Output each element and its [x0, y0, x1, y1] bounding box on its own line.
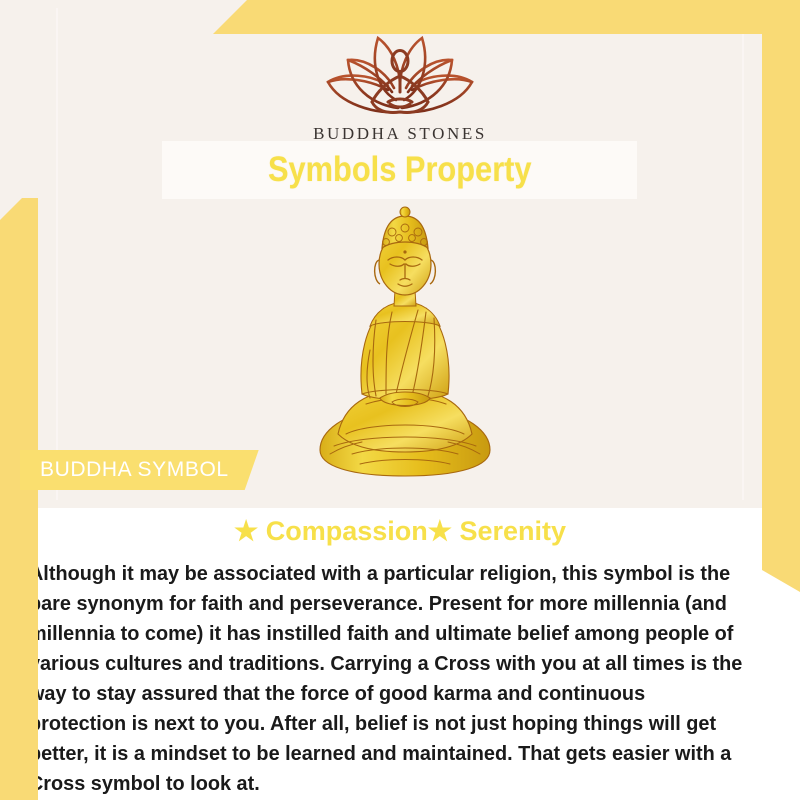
content-subtitle: ★ Compassion★ Serenity	[0, 516, 800, 547]
seated-buddha-statue-icon	[300, 198, 510, 498]
poster-canvas: BUDDHA STONES Symbols Property	[0, 0, 800, 800]
content-section: ★ Compassion★ Serenity Although it may b…	[0, 508, 800, 800]
content-paragraph: Although it may be associated with a par…	[0, 559, 772, 799]
brand-logo: BUDDHA STONES	[0, 24, 800, 144]
lotus-meditation-icon	[0, 24, 800, 120]
buddha-symbol-tag: BUDDHA SYMBOL	[20, 450, 259, 490]
page-title: Symbols Property	[268, 150, 532, 190]
decor-bar-left	[0, 198, 38, 800]
title-banner: Symbols Property	[162, 141, 637, 199]
buddha-symbol-tag-label: BUDDHA SYMBOL	[40, 458, 229, 482]
